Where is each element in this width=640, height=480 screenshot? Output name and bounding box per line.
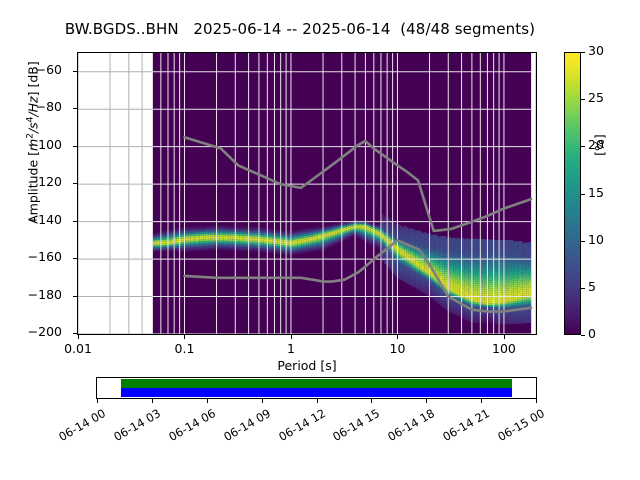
- ppsd-figure: BW.BGDS..BHN 2025-06-14 -- 2025-06-14 (4…: [0, 0, 640, 480]
- data-coverage-green: [121, 379, 512, 388]
- timeline-tick-mark: [426, 399, 427, 403]
- timeline-tick-mark: [262, 399, 263, 403]
- x-tick-mark: [78, 335, 79, 339]
- colorbar-tick-mark: [581, 288, 585, 289]
- colorbar: [564, 52, 581, 335]
- timeline-tick-label: 06-14 18: [378, 406, 437, 448]
- colorbar-tick-label: 15: [588, 185, 618, 200]
- timeline-tick-label: 06-14 12: [269, 406, 328, 448]
- colorbar-label: [%]: [592, 115, 607, 175]
- colorbar-tick-mark: [581, 335, 585, 336]
- timeline-tick-mark: [481, 399, 482, 403]
- page-title: BW.BGDS..BHN 2025-06-14 -- 2025-06-14 (4…: [0, 20, 600, 38]
- x-tick-label: 1: [261, 341, 321, 356]
- colorbar-tick-mark: [581, 241, 585, 242]
- timeline-tick-mark: [97, 399, 98, 403]
- timeline-tick-label: 06-14 03: [104, 406, 163, 448]
- x-axis-label: Period [s]: [77, 358, 537, 373]
- colorbar-tick-mark: [581, 99, 585, 100]
- x-tick-label: 100: [474, 341, 534, 356]
- timeline-tick-label: 06-14 06: [159, 406, 218, 448]
- y-axis-label: Amplitude [m2/s4/Hz] [dB]: [25, 13, 40, 273]
- ppsd-plot-area[interactable]: [77, 52, 537, 335]
- timeline-tick-mark: [317, 399, 318, 403]
- colorbar-tick-mark: [581, 194, 585, 195]
- timeline-tick-label: 06-14 09: [214, 406, 273, 448]
- colorbar-tick-label: 25: [588, 90, 618, 105]
- timeline-tick-label: 06-14 15: [323, 406, 382, 448]
- ppsd-density-plot: [78, 53, 536, 334]
- timeline-tick-mark: [152, 399, 153, 403]
- y-axis-label-text: Amplitude [m2/s4/Hz] [dB]: [26, 61, 41, 224]
- colorbar-tick-label: 0: [588, 326, 618, 341]
- colorbar-tick-mark: [581, 52, 585, 53]
- colorbar-gradient: [565, 53, 580, 334]
- x-tick-mark: [184, 335, 185, 339]
- timeline-tick-label: 06-14 21: [433, 406, 492, 448]
- x-tick-label: 10: [367, 341, 427, 356]
- data-coverage-timeline[interactable]: [96, 377, 537, 399]
- colorbar-tick-label: 5: [588, 279, 618, 294]
- timeline-tick-label: 06-14 00: [49, 406, 108, 448]
- x-tick-mark: [291, 335, 292, 339]
- x-tick-mark: [397, 335, 398, 339]
- timeline-tick-label: 06-15 00: [488, 406, 547, 448]
- x-tick-label: 0.01: [48, 341, 108, 356]
- y-tick-label: −200: [0, 324, 62, 339]
- colorbar-tick-mark: [581, 146, 585, 147]
- data-coverage-blue: [121, 388, 512, 397]
- x-tick-mark: [504, 335, 505, 339]
- colorbar-tick-label: 30: [588, 43, 618, 58]
- timeline-tick-mark: [536, 399, 537, 403]
- timeline-tick-mark: [371, 399, 372, 403]
- colorbar-tick-label: 10: [588, 232, 618, 247]
- timeline-tick-mark: [207, 399, 208, 403]
- x-tick-label: 0.1: [154, 341, 214, 356]
- y-tick-label: −180: [0, 287, 62, 302]
